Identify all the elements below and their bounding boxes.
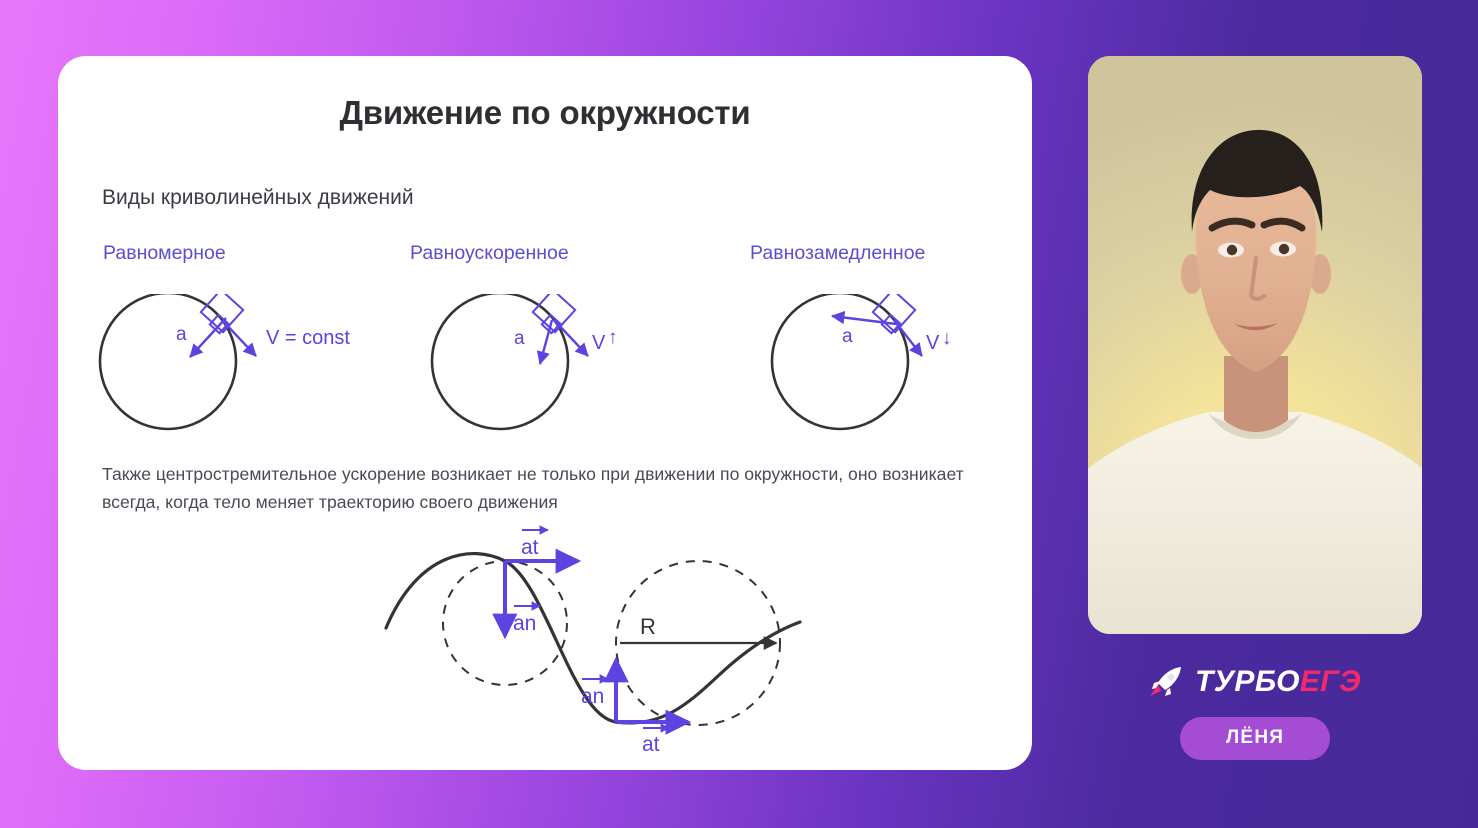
svg-text:R: R: [640, 614, 656, 639]
motion-type-label-uniform: Равномерное: [103, 242, 226, 265]
circle-diagram-accelerated-svg: a V ↑: [430, 294, 700, 469]
motion-type-label-decelerated: Равнозамедленное: [750, 242, 925, 265]
brand-lockup: ТУРБОЕГЭ: [1088, 660, 1422, 704]
acceleration-vector-label: a: [176, 324, 187, 345]
slide-card: Движение по окружности Виды криволинейны…: [58, 56, 1032, 770]
normal-acceleration-label-crest: an: [513, 606, 540, 635]
acceleration-vector: [540, 320, 552, 364]
circle-diagram-uniform: a V = const: [98, 294, 398, 474]
right-angle-marker: [533, 294, 575, 333]
acceleration-vector-label: a: [514, 328, 525, 349]
right-angle-marker: [201, 294, 243, 333]
radius-indicator: R: [620, 614, 776, 643]
velocity-trend-icon: ↓: [942, 328, 952, 349]
wave-diagram: at an R an at: [368, 518, 908, 763]
trajectory-circle: [100, 294, 236, 429]
brand-wordmark: ТУРБОЕГЭ: [1195, 665, 1361, 699]
velocity-vector-label: V: [592, 332, 606, 354]
circle-diagram-decelerated: a V ↓: [770, 294, 1040, 474]
brand-block: ТУРБОЕГЭ ЛЁНЯ: [1088, 660, 1422, 760]
presenter-avatar: [1088, 56, 1422, 634]
trajectory-circle: [772, 294, 908, 429]
tangential-acceleration-label-crest: at: [521, 530, 548, 559]
velocity-vector: [554, 320, 588, 356]
svg-text:at: at: [642, 733, 660, 756]
body-paragraph: Также центростремительное ускорение возн…: [102, 460, 1002, 516]
presenter-video-panel[interactable]: [1088, 56, 1422, 634]
brand-word-turbo: ТУРБО: [1195, 665, 1300, 698]
svg-text:an: an: [513, 612, 536, 635]
velocity-vector-label: V = const: [266, 327, 350, 349]
right-angle-marker: [873, 294, 915, 333]
normal-acceleration-label-trough: an: [581, 679, 608, 708]
motion-type-label-accelerated: Равноускоренное: [410, 242, 569, 265]
velocity-vector: [222, 320, 256, 356]
presenter-torso: [1088, 412, 1422, 634]
trajectory-circle: [432, 294, 568, 429]
velocity-trend-icon: ↑: [608, 327, 618, 348]
brand-word-ege: ЕГЭ: [1300, 665, 1361, 698]
svg-text:an: an: [581, 685, 604, 708]
tangential-acceleration-label-trough: at: [642, 728, 669, 756]
acceleration-vector-label: a: [842, 326, 853, 347]
circle-diagram-decelerated-svg: a V ↓: [770, 294, 1040, 469]
circle-diagram-uniform-svg: a V = const: [98, 294, 398, 469]
velocity-vector-label: V: [926, 332, 940, 354]
rocket-icon: [1149, 666, 1185, 698]
svg-text:at: at: [521, 536, 539, 559]
page-title: Движение по окружности: [58, 94, 1032, 132]
wave-diagram-svg: at an R an at: [368, 518, 908, 758]
acceleration-vector: [190, 318, 226, 357]
section-subtitle: Виды криволинейных движений: [102, 186, 414, 210]
presenter-name-badge: ЛЁНЯ: [1180, 717, 1330, 760]
circle-diagram-accelerated: a V ↑: [430, 294, 700, 474]
